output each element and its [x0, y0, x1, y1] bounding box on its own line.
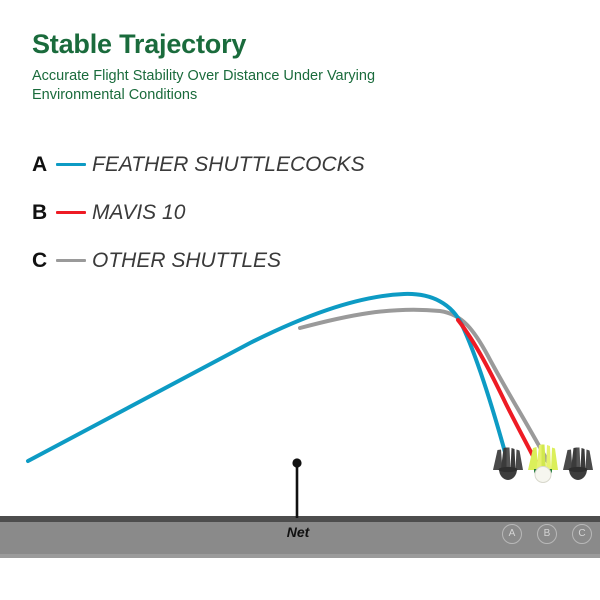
series-line-a: [28, 294, 508, 463]
series-line-c: [300, 310, 548, 462]
shuttlecock-b-icon: [528, 445, 558, 483]
badge-c[interactable]: C: [572, 524, 592, 544]
net-label: Net: [276, 524, 320, 540]
net-marker: [292, 458, 301, 518]
badge-a[interactable]: A: [502, 524, 522, 544]
trajectory-infographic: Stable Trajectory Accurate Flight Stabil…: [0, 0, 600, 600]
trajectory-plot: [0, 0, 600, 600]
badge-b[interactable]: B: [537, 524, 557, 544]
shuttlecock-a-icon: [493, 448, 523, 481]
shuttlecock-c-icon: [563, 448, 593, 481]
